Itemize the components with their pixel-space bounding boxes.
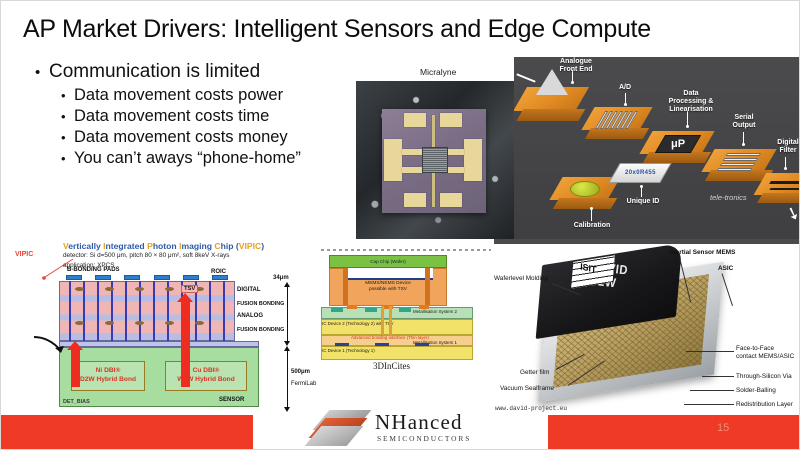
filter-leader-line	[785, 157, 786, 168]
calibration-leader-line	[591, 208, 592, 221]
bullet-level1: • Communication is limited	[35, 61, 365, 83]
micralyne-credit-label: Micralyne	[420, 67, 456, 77]
label-tsv: TSV	[181, 285, 198, 293]
label-unique-id: Unique ID	[618, 198, 668, 206]
afe-input-line	[516, 73, 535, 82]
bullet-marker-icon: •	[61, 110, 74, 123]
tsv-column-right	[425, 268, 430, 306]
leader-asic	[722, 273, 733, 306]
label-analogue-front-end: AnalogueFront End	[544, 58, 608, 74]
label-b-bonding-pads: B-BONDING PADS	[67, 267, 120, 273]
logo-subtitle: SEMICONDUCTORS	[377, 434, 471, 443]
logo-wordmark: NHanced	[375, 410, 463, 435]
dincites-figure: Cap Chip (Wafer) MEMS/NEMS Device possib…	[321, 249, 491, 371]
f2f-line1: Face-to-Face	[736, 345, 774, 352]
label-dim-34um: 34μm	[273, 275, 289, 281]
bullet-level2-label: Data movement costs power	[74, 86, 283, 105]
dimension-line-top	[287, 287, 288, 341]
label-ic-device-1: IC Device 1 (Technology 1)	[322, 348, 375, 353]
label-dim-500um: 500μm	[291, 369, 310, 375]
tele-tronics-watermark: tele-tronics	[710, 193, 747, 202]
label-sensor: SENSOR	[219, 397, 244, 403]
tsv-column-left	[343, 268, 348, 306]
page-title: AP Market Drivers: Intelligent Sensors a…	[23, 15, 651, 44]
vipic-heading-block: Vertically Integrated Photon Imaging Chi…	[63, 241, 313, 270]
label-fusion-bonding-2: FUSION BONDING	[237, 327, 284, 333]
leader-tsv	[702, 376, 734, 377]
serial-leader-line	[743, 132, 744, 144]
calibration-disc	[570, 181, 600, 197]
label-asic: ASIC	[718, 265, 733, 273]
output-arrow-icon: ➘	[784, 203, 800, 224]
label-det-bias: DET_BIAS	[63, 399, 90, 405]
sensor-callout-curve-icon	[33, 331, 67, 357]
f2f-line2: contact MEMS/ASIC	[736, 353, 794, 360]
bullet-marker-icon: •	[61, 152, 74, 165]
bullet-level2: • Data movement costs power	[61, 86, 365, 105]
bullet-level2-label: Data movement costs time	[74, 107, 269, 126]
vipic-callout-tag: VIPIC	[15, 251, 33, 258]
label-ad-converter: A/D	[608, 84, 642, 92]
dincites-caption: 3DInCites	[373, 361, 410, 371]
bullet-level1-label: Communication is limited	[49, 61, 260, 83]
vipic-figure: VIPIC Vertically Integrated Photon Imagi…	[15, 239, 315, 417]
bond-ni-line2: D2W Hybrid Bond	[80, 376, 136, 385]
bond-box-ni-dbi: Ni DBI® D2W Hybrid Bond	[71, 361, 145, 391]
leader-solder	[690, 390, 734, 391]
cu-bond-arrow-icon	[181, 301, 190, 387]
page-number: 15	[717, 422, 729, 434]
label-fermilab: FermiLab	[291, 381, 316, 387]
mup-label: μP	[671, 138, 685, 150]
leader-f2f	[686, 351, 734, 352]
bond-ni-line1: Ni DBI®	[96, 367, 121, 376]
label-getter-film: Getter film	[520, 369, 549, 377]
bullet-marker-icon: •	[61, 131, 74, 144]
sensor-signal-chain-figure: Micralyne	[356, 57, 800, 239]
david-top-band	[494, 239, 800, 244]
bullet-level2-label: You can’t aways “phone-home”	[74, 149, 301, 168]
vipic-heading: Vertically Integrated Photon Imaging Chi…	[63, 241, 313, 251]
label-serial-output: SerialOutput	[720, 114, 768, 130]
footer-red-bar-right	[548, 415, 800, 450]
vipic-detail-line1: detector: Si d=500 μm, pitch 80 × 80 μm²…	[63, 252, 313, 261]
slide-canvas: AP Market Drivers: Intelligent Sensors a…	[0, 0, 800, 450]
label-solder-balling: Solder-Balling	[736, 387, 776, 395]
bullet-level2: • Data movement costs time	[61, 107, 365, 126]
bullet-level2: • You can’t aways “phone-home”	[61, 149, 365, 168]
label-metallisation-2: Metallisation System 2	[413, 309, 457, 314]
mems-chip-photo	[356, 81, 514, 239]
signal-chain-diagram: AnalogueFront End A/D μP DataProcessing …	[514, 57, 800, 239]
unique-id-chip-text: 20x0R455	[625, 170, 656, 176]
label-face-to-face-contact: Face-to-Face contact MEMS/ASIC	[736, 345, 794, 362]
leader-rdl	[684, 404, 734, 405]
label-vacuum-sealframe: Vacuum Sealframe	[500, 385, 554, 393]
david-package-figure: DAVID C2W ISIT Waferlevel Molding Getter…	[494, 239, 800, 419]
dimension-line-bottom	[287, 351, 288, 407]
uid-leader-line	[641, 186, 642, 197]
bond-cu-line1: Cu DBI®	[193, 367, 220, 376]
logo-layers-icon	[313, 410, 369, 446]
label-through-silicon-via: Through-Silicon Via	[736, 373, 792, 381]
label-digital-filter: DigitalFilter	[766, 139, 800, 155]
label-inertial-sensor-mems: Inertial Sensor MEMS	[670, 249, 735, 257]
unique-id-chip: 20x0R455	[608, 163, 672, 183]
ad-leader-line	[625, 93, 626, 104]
mems-line2: possible with TSV	[369, 287, 407, 293]
bond-box-cu-dbi: Cu DBI® W2W Hybrid Bond	[165, 361, 247, 391]
dincites-top-divider	[321, 249, 491, 251]
label-data-processing: DataProcessing &Linearisation	[660, 90, 722, 114]
bullet-level2-label: Data movement costs money	[74, 128, 288, 147]
chip-die-array	[422, 147, 448, 173]
bullet-list: • Communication is limited • Data moveme…	[35, 61, 365, 170]
bullet-marker-icon: •	[35, 65, 49, 80]
bullet-level2: • Data movement costs money	[61, 128, 365, 147]
label-waferlevel-molding: Waferlevel Molding	[494, 275, 548, 283]
footer-red-bar-left	[1, 415, 253, 450]
transistor-blobs	[59, 281, 235, 341]
label-fusion-bonding-1: FUSION BONDING	[237, 301, 284, 307]
bullet-marker-icon: •	[61, 89, 74, 102]
label-roic: ROIC	[211, 269, 226, 275]
filter-trace-1	[769, 181, 800, 184]
filter-trace-2	[769, 188, 800, 190]
mems-cavity	[343, 268, 433, 280]
label-calibration: Calibration	[562, 222, 622, 230]
ni-bond-arrow-icon	[71, 349, 80, 387]
label-analog: ANALOG	[237, 313, 263, 319]
nhanced-logo: NHanced SEMICONDUCTORS	[313, 406, 513, 448]
label-redistribution-layer: Redistribution Layer	[736, 401, 793, 409]
cap-chip-layer: Cap Chip (Wafer)	[329, 255, 447, 268]
label-digital: DIGITAL	[237, 287, 261, 293]
